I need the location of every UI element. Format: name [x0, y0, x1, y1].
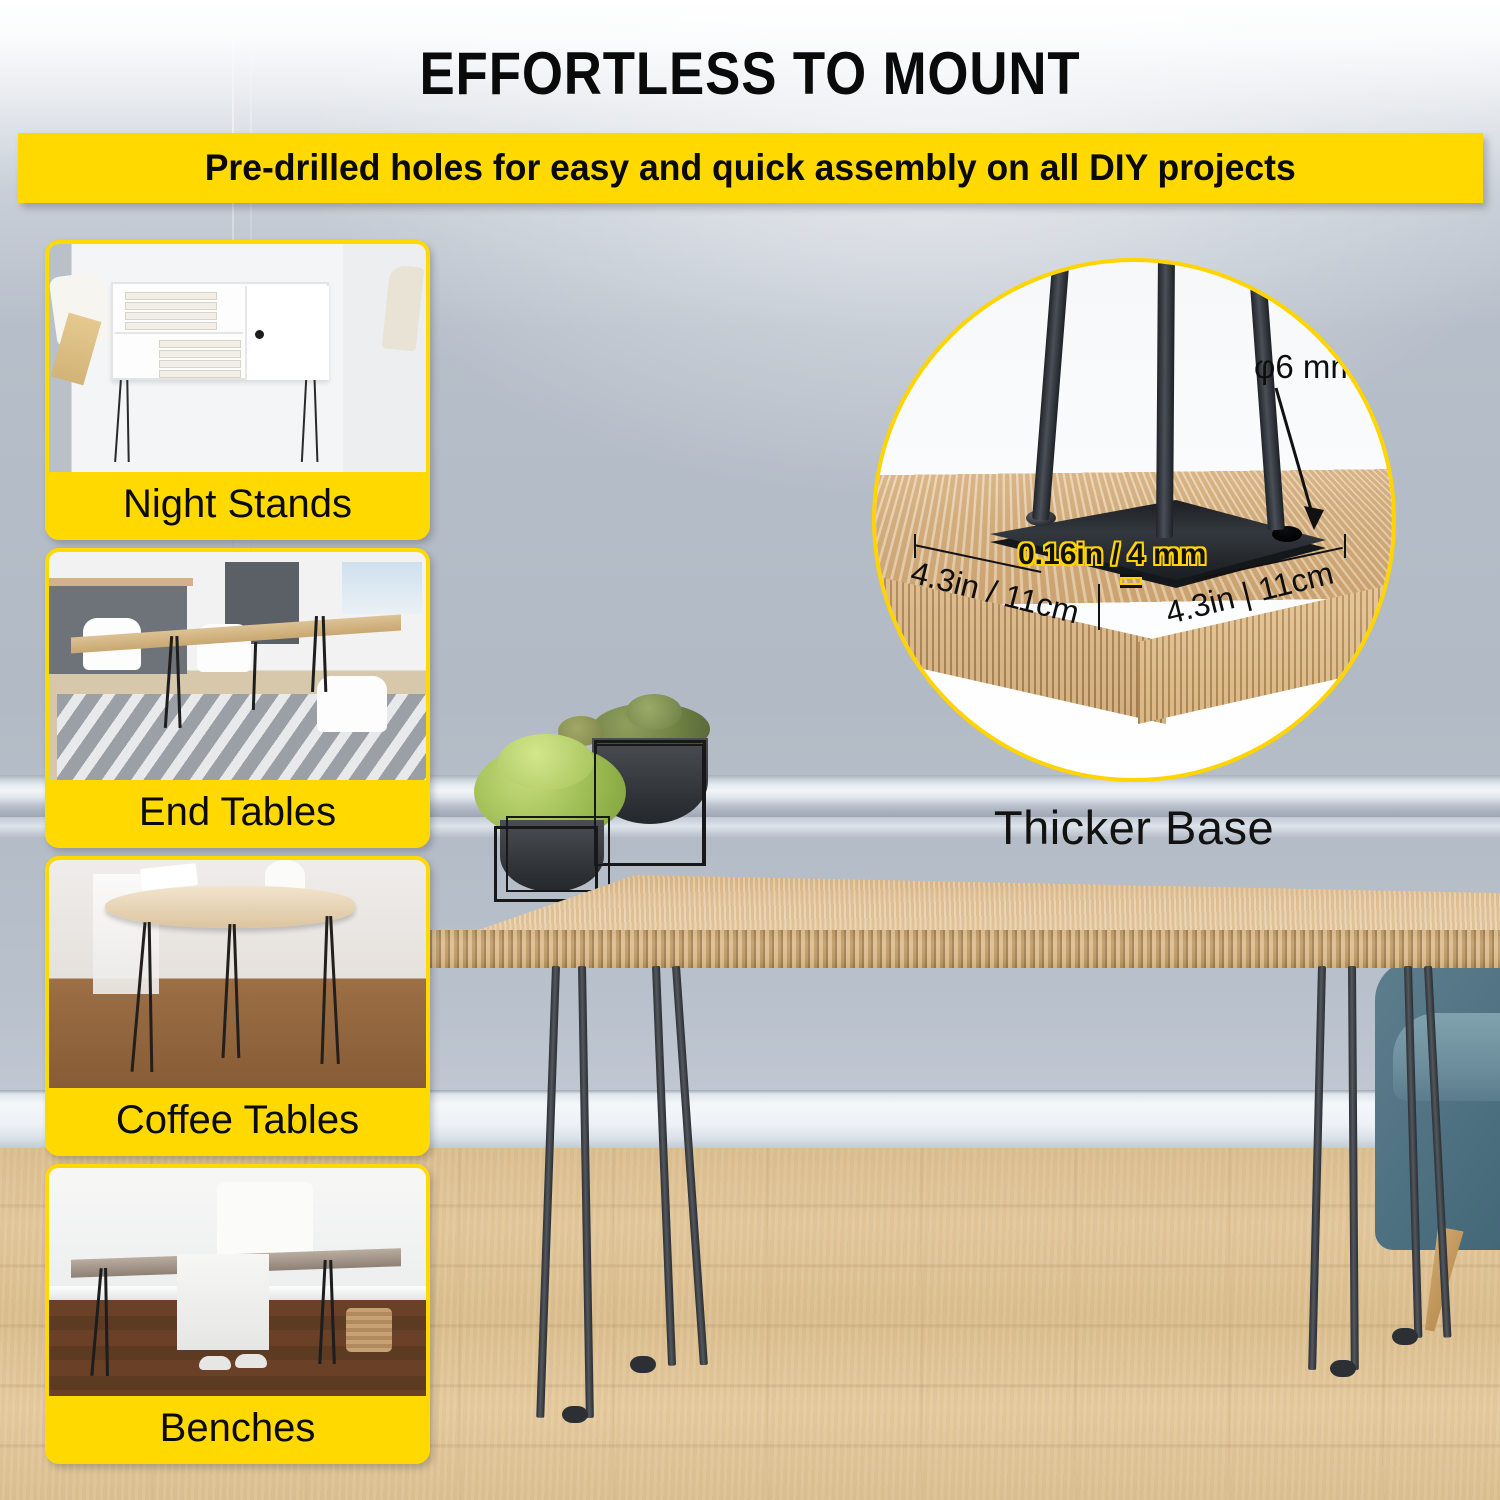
use-case-card-night-stands[interactable]: Night Stands	[45, 240, 430, 540]
corner-vertical-line	[1098, 584, 1100, 630]
table-foot-left-back	[630, 1356, 656, 1373]
card-label-coffee-tables: Coffee Tables	[49, 1088, 426, 1152]
benches-photo	[49, 1168, 426, 1396]
table-foot-right-front	[1330, 1360, 1356, 1377]
night-stands-photo	[49, 244, 426, 472]
end-tables-photo	[49, 552, 426, 780]
thickness-indicator-icon	[1120, 574, 1142, 588]
back-plant-frame-inner	[594, 744, 704, 866]
hole-callout-arrow-icon	[1256, 380, 1336, 540]
use-case-card-coffee-tables[interactable]: Coffee Tables	[45, 856, 430, 1156]
use-case-card-end-tables[interactable]: End Tables	[45, 548, 430, 848]
callout-leg-rod-2	[1156, 258, 1175, 538]
card-label-benches: Benches	[49, 1396, 426, 1460]
dim-tick-right	[1344, 534, 1346, 558]
card-label-night-stands: Night Stands	[49, 472, 426, 536]
plate-thickness-label: 0.16in / 4 mm	[1018, 538, 1206, 572]
page-headline: EFFORTLESS TO MOUNT	[90, 44, 1410, 104]
subhead-text: Pre-drilled holes for easy and quick ass…	[205, 147, 1296, 189]
card-label-end-tables: End Tables	[49, 780, 426, 844]
thicker-base-title: Thicker Base	[872, 800, 1396, 855]
coffee-tables-photo	[49, 860, 426, 1088]
table-top-edge	[430, 930, 1500, 968]
thicker-base-callout-circle: 0.16in / 4 mm 4.3in / 11cm 4.3in | 11cm …	[872, 258, 1396, 782]
table-foot-right-back	[1392, 1328, 1418, 1345]
subhead-banner: Pre-drilled holes for easy and quick ass…	[18, 133, 1483, 203]
use-case-card-benches[interactable]: Benches	[45, 1164, 430, 1464]
table-foot-left-front	[562, 1406, 588, 1423]
